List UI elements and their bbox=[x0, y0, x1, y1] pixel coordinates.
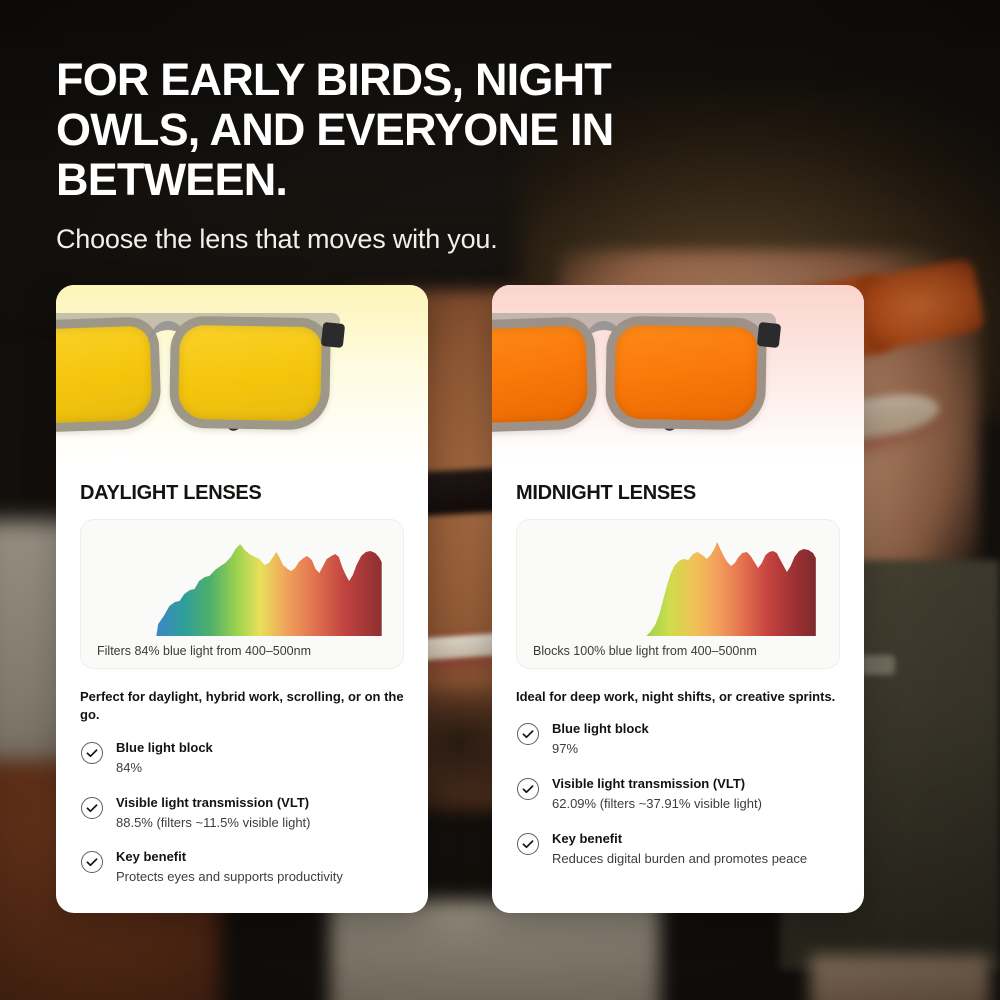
feature-label: Visible light transmission (VLT) bbox=[552, 776, 762, 793]
feature-value: 62.09% (filters ~37.91% visible light) bbox=[552, 795, 762, 814]
glasses-lens-right bbox=[605, 316, 767, 431]
glasses-hinge bbox=[321, 322, 345, 348]
spectrum-chart-daylight bbox=[93, 532, 391, 636]
page-headline: FOR EARLY BIRDS, NIGHT OWLS, AND EVERYON… bbox=[56, 55, 676, 205]
glasses-hinge bbox=[757, 322, 781, 348]
card-description: Ideal for deep work, night shifts, or cr… bbox=[516, 688, 840, 706]
lens-comparison-cards: DAYLIGHT LENSES bbox=[56, 285, 944, 913]
check-circle-icon bbox=[80, 741, 104, 765]
feature-value: Reduces digital burden and promotes peac… bbox=[552, 850, 807, 869]
feature-text: Key benefit Protects eyes and supports p… bbox=[116, 848, 343, 887]
card-body: DAYLIGHT LENSES bbox=[56, 460, 428, 913]
feature-text: Key benefit Reduces digital burden and p… bbox=[552, 830, 807, 869]
check-circle-icon bbox=[516, 832, 540, 856]
check-circle-icon bbox=[80, 796, 104, 820]
feature-item: Key benefit Protects eyes and supports p… bbox=[80, 848, 404, 887]
hero-header: FOR EARLY BIRDS, NIGHT OWLS, AND EVERYON… bbox=[56, 55, 676, 255]
feature-item: Key benefit Reduces digital burden and p… bbox=[516, 830, 840, 869]
feature-text: Blue light block 97% bbox=[552, 720, 649, 759]
card-description: Perfect for daylight, hybrid work, scrol… bbox=[80, 688, 404, 725]
spectrum-caption: Filters 84% blue light from 400–500nm bbox=[93, 644, 391, 658]
feature-text: Visible light transmission (VLT) 62.09% … bbox=[552, 775, 762, 814]
feature-label: Key benefit bbox=[552, 831, 807, 848]
feature-item: Visible light transmission (VLT) 62.09% … bbox=[516, 775, 840, 814]
card-title: MIDNIGHT LENSES bbox=[516, 482, 840, 505]
glasses-lens-right bbox=[169, 316, 331, 431]
feature-value: 97% bbox=[552, 740, 649, 759]
card-body: MIDNIGHT LENSES bbox=[492, 460, 864, 895]
feature-label: Visible light transmission (VLT) bbox=[116, 795, 311, 812]
daylight-glasses-image bbox=[56, 285, 428, 460]
spectrum-chart-midnight bbox=[529, 532, 827, 636]
glasses-lens-left bbox=[492, 316, 598, 434]
lens-card-midnight[interactable]: MIDNIGHT LENSES bbox=[492, 285, 864, 913]
glasses-icon bbox=[56, 307, 428, 447]
feature-item: Blue light block 97% bbox=[516, 720, 840, 759]
feature-value: 88.5% (filters ~11.5% visible light) bbox=[116, 814, 311, 833]
spectrum-caption: Blocks 100% blue light from 400–500nm bbox=[529, 644, 827, 658]
feature-text: Visible light transmission (VLT) 88.5% (… bbox=[116, 794, 311, 833]
feature-value: 84% bbox=[116, 759, 213, 778]
feature-value: Protects eyes and supports productivity bbox=[116, 868, 343, 887]
glasses-icon bbox=[492, 307, 864, 447]
feature-item: Visible light transmission (VLT) 88.5% (… bbox=[80, 794, 404, 833]
midnight-glasses-image bbox=[492, 285, 864, 460]
glasses-lens-left bbox=[56, 316, 162, 434]
check-circle-icon bbox=[80, 850, 104, 874]
lens-card-daylight[interactable]: DAYLIGHT LENSES bbox=[56, 285, 428, 913]
card-title: DAYLIGHT LENSES bbox=[80, 482, 404, 505]
feature-label: Key benefit bbox=[116, 849, 343, 866]
spectrum-panel: Blocks 100% blue light from 400–500nm bbox=[516, 519, 840, 669]
feature-item: Blue light block 84% bbox=[80, 739, 404, 778]
check-circle-icon bbox=[516, 777, 540, 801]
feature-label: Blue light block bbox=[116, 740, 213, 757]
feature-text: Blue light block 84% bbox=[116, 739, 213, 778]
feature-label: Blue light block bbox=[552, 721, 649, 738]
check-circle-icon bbox=[516, 722, 540, 746]
page-subheadline: Choose the lens that moves with you. bbox=[56, 224, 676, 255]
spectrum-panel: Filters 84% blue light from 400–500nm bbox=[80, 519, 404, 669]
